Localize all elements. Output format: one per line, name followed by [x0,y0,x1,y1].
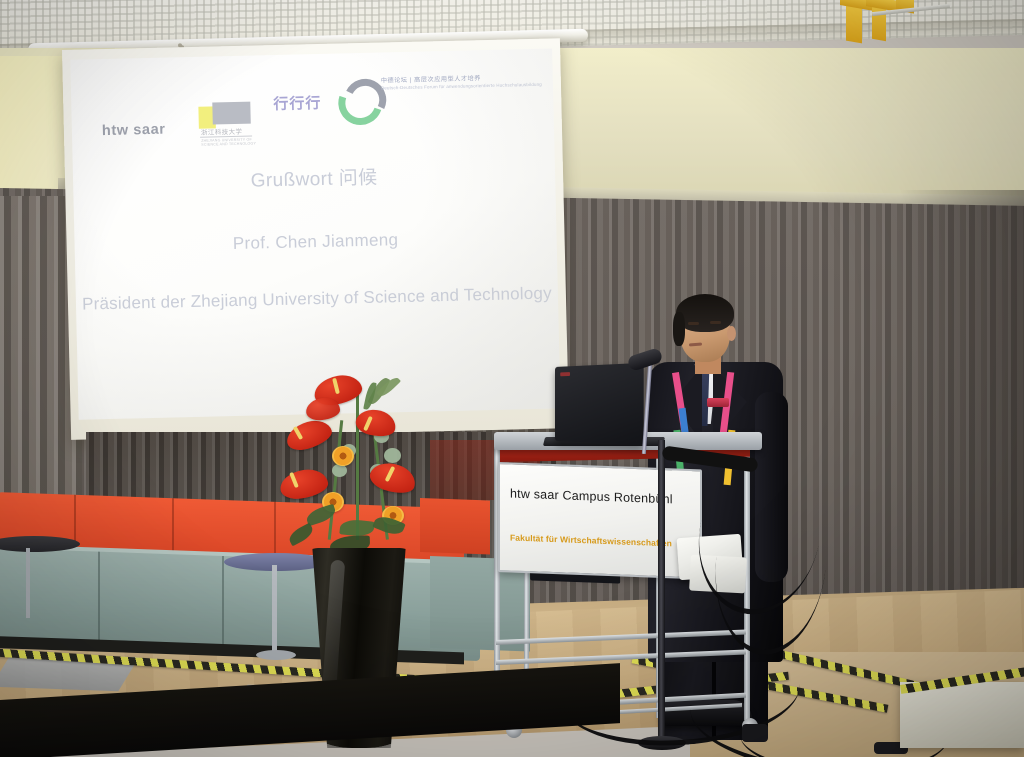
flower-stem [328,420,344,540]
presentation-photo: htw saar 浙江科技大学 ZHEJIANG UNIVERSITY OF S… [0,0,1024,757]
anthurium-flower [278,467,329,501]
lectern-sign-title: htw saar Campus Rotenbühl [510,486,673,506]
eucalyptus-leaf [384,448,401,463]
speaker-eye [688,322,699,325]
side-table-stem [26,548,30,618]
speaker-lapel-badge [707,398,729,407]
sofa-seam [98,552,100,648]
speaker-eye [710,321,721,324]
anthurium-flower [283,416,334,454]
lectern-sign: htw saar Campus Rotenbühl Fakultät für W… [498,462,702,579]
laptop-logo-icon [560,372,570,376]
step-box [900,682,1024,748]
gerbera-flower [332,446,354,466]
flower-arrangement [270,360,450,560]
side-table-stem [272,565,277,655]
speaker-ear [727,326,736,341]
wall-shadow [560,48,1024,198]
leaf [286,523,315,547]
laptop-screen[interactable] [555,363,644,445]
anthurium-flower [305,397,340,421]
cable-connector [742,724,768,742]
sofa-seam [222,556,224,652]
anthurium-flower [353,406,398,441]
lectern-sign-subtitle: Fakultät für Wirtschaftswissenschaften [510,532,672,548]
speaker-hair-side [673,312,685,346]
eucalyptus-leaf [332,464,347,477]
side-table-foot [256,650,296,660]
flower-stem [356,390,359,540]
